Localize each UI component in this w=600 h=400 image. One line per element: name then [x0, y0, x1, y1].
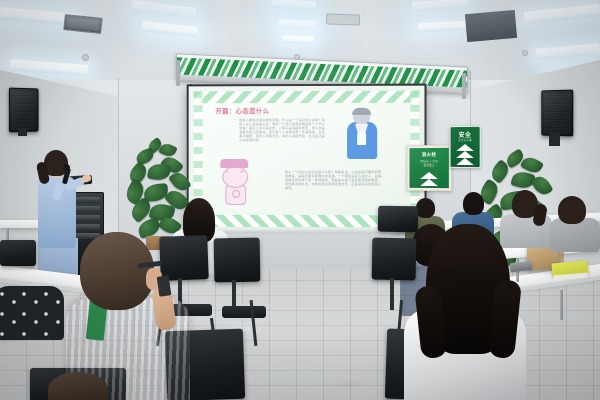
chair-seat[interactable] [222, 306, 266, 318]
smoke-detector [522, 50, 528, 56]
chair-back-far-left[interactable] [0, 240, 36, 266]
smoke-detector [82, 54, 89, 61]
speaker-grill [544, 93, 570, 134]
slide-body-text-left: 很多人都会问我这样的问题，什么是一个良好的心态呢？有的人说心态就是心情，难道一个… [239, 119, 325, 143]
slide-title: 开篇：心态是什么 [215, 106, 269, 115]
scholar-scroll [357, 133, 366, 145]
fire-sign-subtitle-2: 生命至上 [409, 163, 448, 167]
chair-post [390, 278, 394, 310]
classroom-scene: 开篇：心态是什么 很多人都会问我这样的问题，什么是一个良好的心态呢？有的人说心态… [0, 0, 600, 400]
valance-end-cap [462, 73, 466, 99]
chevron-up-icon [420, 172, 438, 179]
ceiling-light-panel [282, 35, 314, 43]
exit-sign-subtitle: 安全无小事 [451, 138, 480, 142]
plant-leaf [147, 163, 171, 182]
nurse-cap [220, 159, 248, 168]
speaker-bracket [549, 132, 560, 146]
scholar-hair [352, 108, 371, 115]
table-leg [560, 290, 563, 320]
ceiling-air-vent [465, 10, 517, 42]
nurse-cheek [240, 170, 244, 173]
speaker-grill [12, 91, 36, 130]
chevron-up-icon [420, 179, 438, 186]
attendee-torso [0, 286, 64, 340]
attendee-hair [558, 196, 586, 224]
fire-sign-title: 消火栓 [409, 152, 448, 158]
attendee-front-right [404, 224, 536, 400]
nurse-cheek [224, 170, 228, 173]
wall-speaker-right [541, 90, 573, 137]
slide-body-text-right: 那么一个好的心态究竟是什么呢？简单来说，心态是我们看待世界的角度，是我们面对困难… [285, 171, 381, 191]
attendee-hair [463, 192, 484, 215]
fire-hydrant-sign: 消火栓 消防安全 人人有责 生命至上 [407, 145, 452, 191]
attendee-far-right [550, 196, 600, 246]
nurse-badge [232, 190, 240, 198]
valance-end-cap [176, 60, 180, 86]
smartphone-held[interactable] [157, 275, 172, 296]
slide-border-top [194, 91, 420, 104]
attendee-left-polkadot [0, 276, 64, 338]
notebook[interactable] [551, 260, 588, 277]
ceiling-grid-line [150, 0, 151, 92]
smoke-detector [326, 13, 360, 25]
attendee-foreground-head [48, 372, 108, 400]
chair-back-mid[interactable] [214, 238, 261, 283]
slide-scholar-illustration [345, 109, 379, 159]
microphone-head [63, 164, 70, 171]
chevron-up-icon [456, 144, 473, 151]
speaker-bracket [18, 128, 27, 136]
attendee-hair [416, 198, 435, 218]
attendee-head [80, 232, 154, 310]
wall-speaker-left [9, 88, 39, 133]
